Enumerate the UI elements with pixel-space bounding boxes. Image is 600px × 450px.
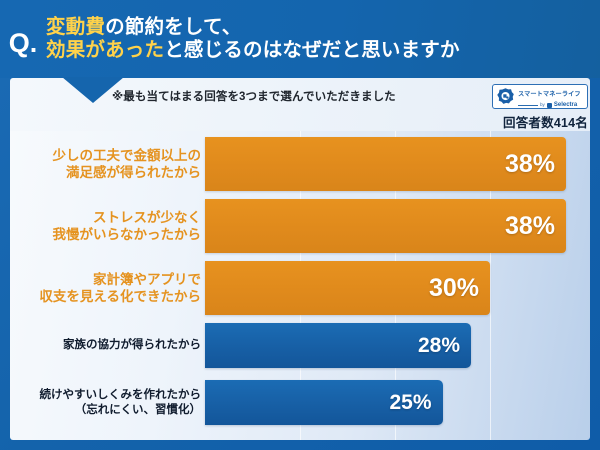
chart-row: 家計簿やアプリで 収支を見える化できたから30% [10, 261, 590, 315]
gear-icon [496, 87, 515, 106]
bar: 38% [205, 199, 566, 253]
bar-value-label: 38% [505, 212, 555, 241]
bar: 28% [205, 323, 471, 368]
bar-category-label: 家計簿やアプリで 収支を見える化できたから [39, 271, 201, 306]
chart-row: 少しの工夫で金額以上の 満足感が得られたから38% [10, 137, 590, 191]
brand-logo: スマートマネーライフ by Selectra [492, 84, 588, 109]
chart-row: 続けやすいしくみを作れたから （忘れにくい、習慣化）25% [10, 380, 590, 425]
logo-divider-rule [518, 105, 538, 106]
bar-value-label: 38% [505, 150, 555, 179]
bar: 25% [205, 380, 443, 425]
logo-partner-row: by Selectra [518, 102, 584, 108]
selectra-mark-icon [547, 103, 552, 108]
logo-by-label: by [540, 103, 545, 108]
question-mark-label: Q. [0, 20, 46, 59]
bar-value-label: 25% [389, 391, 431, 415]
question-text: 変動費の節約をして、 効果があったと感じるのはなぜだと思いますか [46, 16, 600, 62]
logo-wordmark: スマートマネーライフ by Selectra [515, 84, 584, 108]
question-line-1-rest: の節約をして、 [105, 16, 241, 38]
respondent-count: 回答者数414名 [503, 112, 588, 131]
bar-value-label: 30% [429, 274, 479, 303]
bar-category-label: 家族の協力が得られたから [63, 338, 201, 353]
infographic-poster: Q. 変動費の節約をして、 効果があったと感じるのはなぜだと思いますか ※最も当… [0, 0, 600, 450]
header-banner: Q. 変動費の節約をして、 効果があったと感じるのはなぜだと思いますか [0, 0, 600, 78]
bar-category-label: ストレスが少なく 我慢がいらなかったから [53, 209, 202, 244]
chart-row: 家族の協力が得られたから28% [10, 323, 590, 368]
bar-category-label: 少しの工夫で金額以上の 満足感が得られたから [53, 147, 202, 182]
survey-note: ※最も当てはまる回答を3つまで選んでいただきました [112, 88, 396, 104]
question-line-2: 効果があったと感じるのはなぜだと思いますか [46, 39, 590, 62]
header-pointer-triangle [62, 77, 124, 103]
bar: 30% [205, 261, 490, 315]
question-line-1-highlight: 変動費 [46, 16, 105, 38]
chart-row: ストレスが少なく 我慢がいらなかったから38% [10, 199, 590, 253]
question-line-1: 変動費の節約をして、 [46, 16, 590, 39]
bar-value-label: 28% [418, 334, 460, 358]
question-line-2-rest: と感じるのはなぜだと思いますか [164, 39, 460, 61]
logo-partner-name: Selectra [554, 102, 577, 108]
question-line-2-highlight: 効果があった [46, 39, 164, 61]
bar-category-label: 続けやすいしくみを作れたから （忘れにくい、習慣化） [40, 388, 201, 417]
bar: 38% [205, 137, 566, 191]
chart-panel: 少しの工夫で金額以上の 満足感が得られたから38%ストレスが少なく 我慢がいらな… [10, 131, 590, 440]
logo-brand-name: スマートマネーライフ [518, 91, 581, 98]
